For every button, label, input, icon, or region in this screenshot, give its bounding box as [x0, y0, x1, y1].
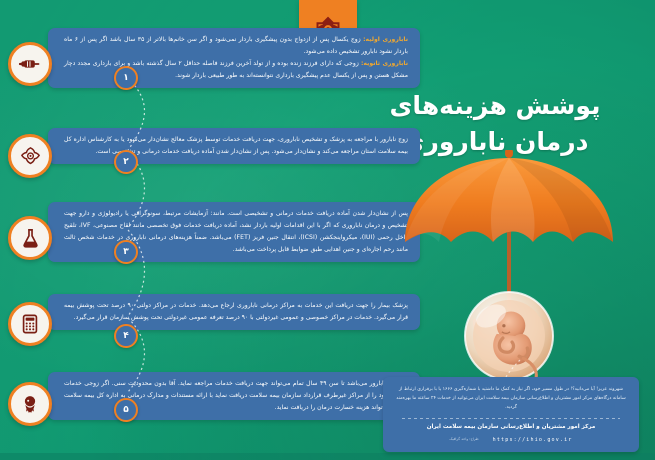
- footer-bar: [0, 453, 655, 460]
- infographic-poster: سازمان بیمه سلامت ایران پوشش هزینه‌های د…: [0, 0, 655, 460]
- info-panel-body: شهروند عزیز! آیا می‌دانید؟! در طول مسیر …: [395, 385, 627, 413]
- info-panel: شهروند عزیز! آیا می‌دانید؟! در طول مسیر …: [383, 377, 639, 452]
- block-1-lead-2: ناباروری ثانویه:: [361, 60, 408, 67]
- block-2-text-1: زوج نابارور با مراجعه به پزشک و تشخیص نا…: [64, 136, 408, 155]
- block-bubble-2: زوج نابارور با مراجعه به پزشک و تشخیص نا…: [48, 128, 420, 164]
- content-blocks: ناباروری اولیه: زوج یکسال پس از ازدواج ب…: [0, 0, 430, 460]
- info-panel-divider: [402, 418, 620, 419]
- info-panel-url[interactable]: https://ihio.gov.ir: [493, 435, 573, 445]
- block-1-paragraph-1: ناباروری اولیه: زوج یکسال پس از ازدواج ب…: [64, 34, 408, 58]
- block-number-2: ۲: [114, 150, 138, 174]
- info-panel-organization: مرکز امور مشتریان و اطلاع‌رسانی سازمان ب…: [395, 423, 627, 432]
- block-bubble-3: پس از نشان‌دار شدن آماده دریافت خدمات در…: [48, 202, 420, 262]
- umbrella-illustration: [387, 150, 637, 400]
- info-panel-url-row: https://ihio.gov.ir طراح: واحد گرافیک: [395, 435, 627, 445]
- calculator-icon[interactable]: [8, 302, 52, 346]
- block-number-1: ۱: [114, 66, 138, 90]
- block-number-4: ۴: [114, 324, 138, 348]
- block-bubble-1: ناباروری اولیه: زوج یکسال پس از ازدواج ب…: [48, 28, 420, 88]
- block-1-lead-1: ناباروری اولیه:: [363, 36, 408, 43]
- block-bubble-5: خانم که نابارور می‌باشد تا سن ۴۹ سال تما…: [48, 372, 420, 420]
- block-number-3: ۳: [114, 240, 138, 264]
- block-4-text-1: پزشک بیمار را جهت دریافت این خدمات به مر…: [64, 302, 408, 321]
- block-bubble-4: پزشک بیمار را جهت دریافت این خدمات به مر…: [48, 294, 420, 330]
- block-1-text-1: زوج یکسال پس از ازدواج بدون پیشگیری بارد…: [64, 36, 408, 55]
- fetus-icon[interactable]: [8, 382, 52, 426]
- syringe-icon[interactable]: [8, 42, 52, 86]
- block-number-5: ۵: [114, 398, 138, 422]
- lab-flask-icon[interactable]: [8, 216, 52, 260]
- block-4-paragraph-1: پزشک بیمار را جهت دریافت این خدمات به مر…: [64, 300, 408, 324]
- organization-logo-icon[interactable]: [8, 134, 52, 178]
- info-panel-designer: طراح: واحد گرافیک: [449, 436, 478, 443]
